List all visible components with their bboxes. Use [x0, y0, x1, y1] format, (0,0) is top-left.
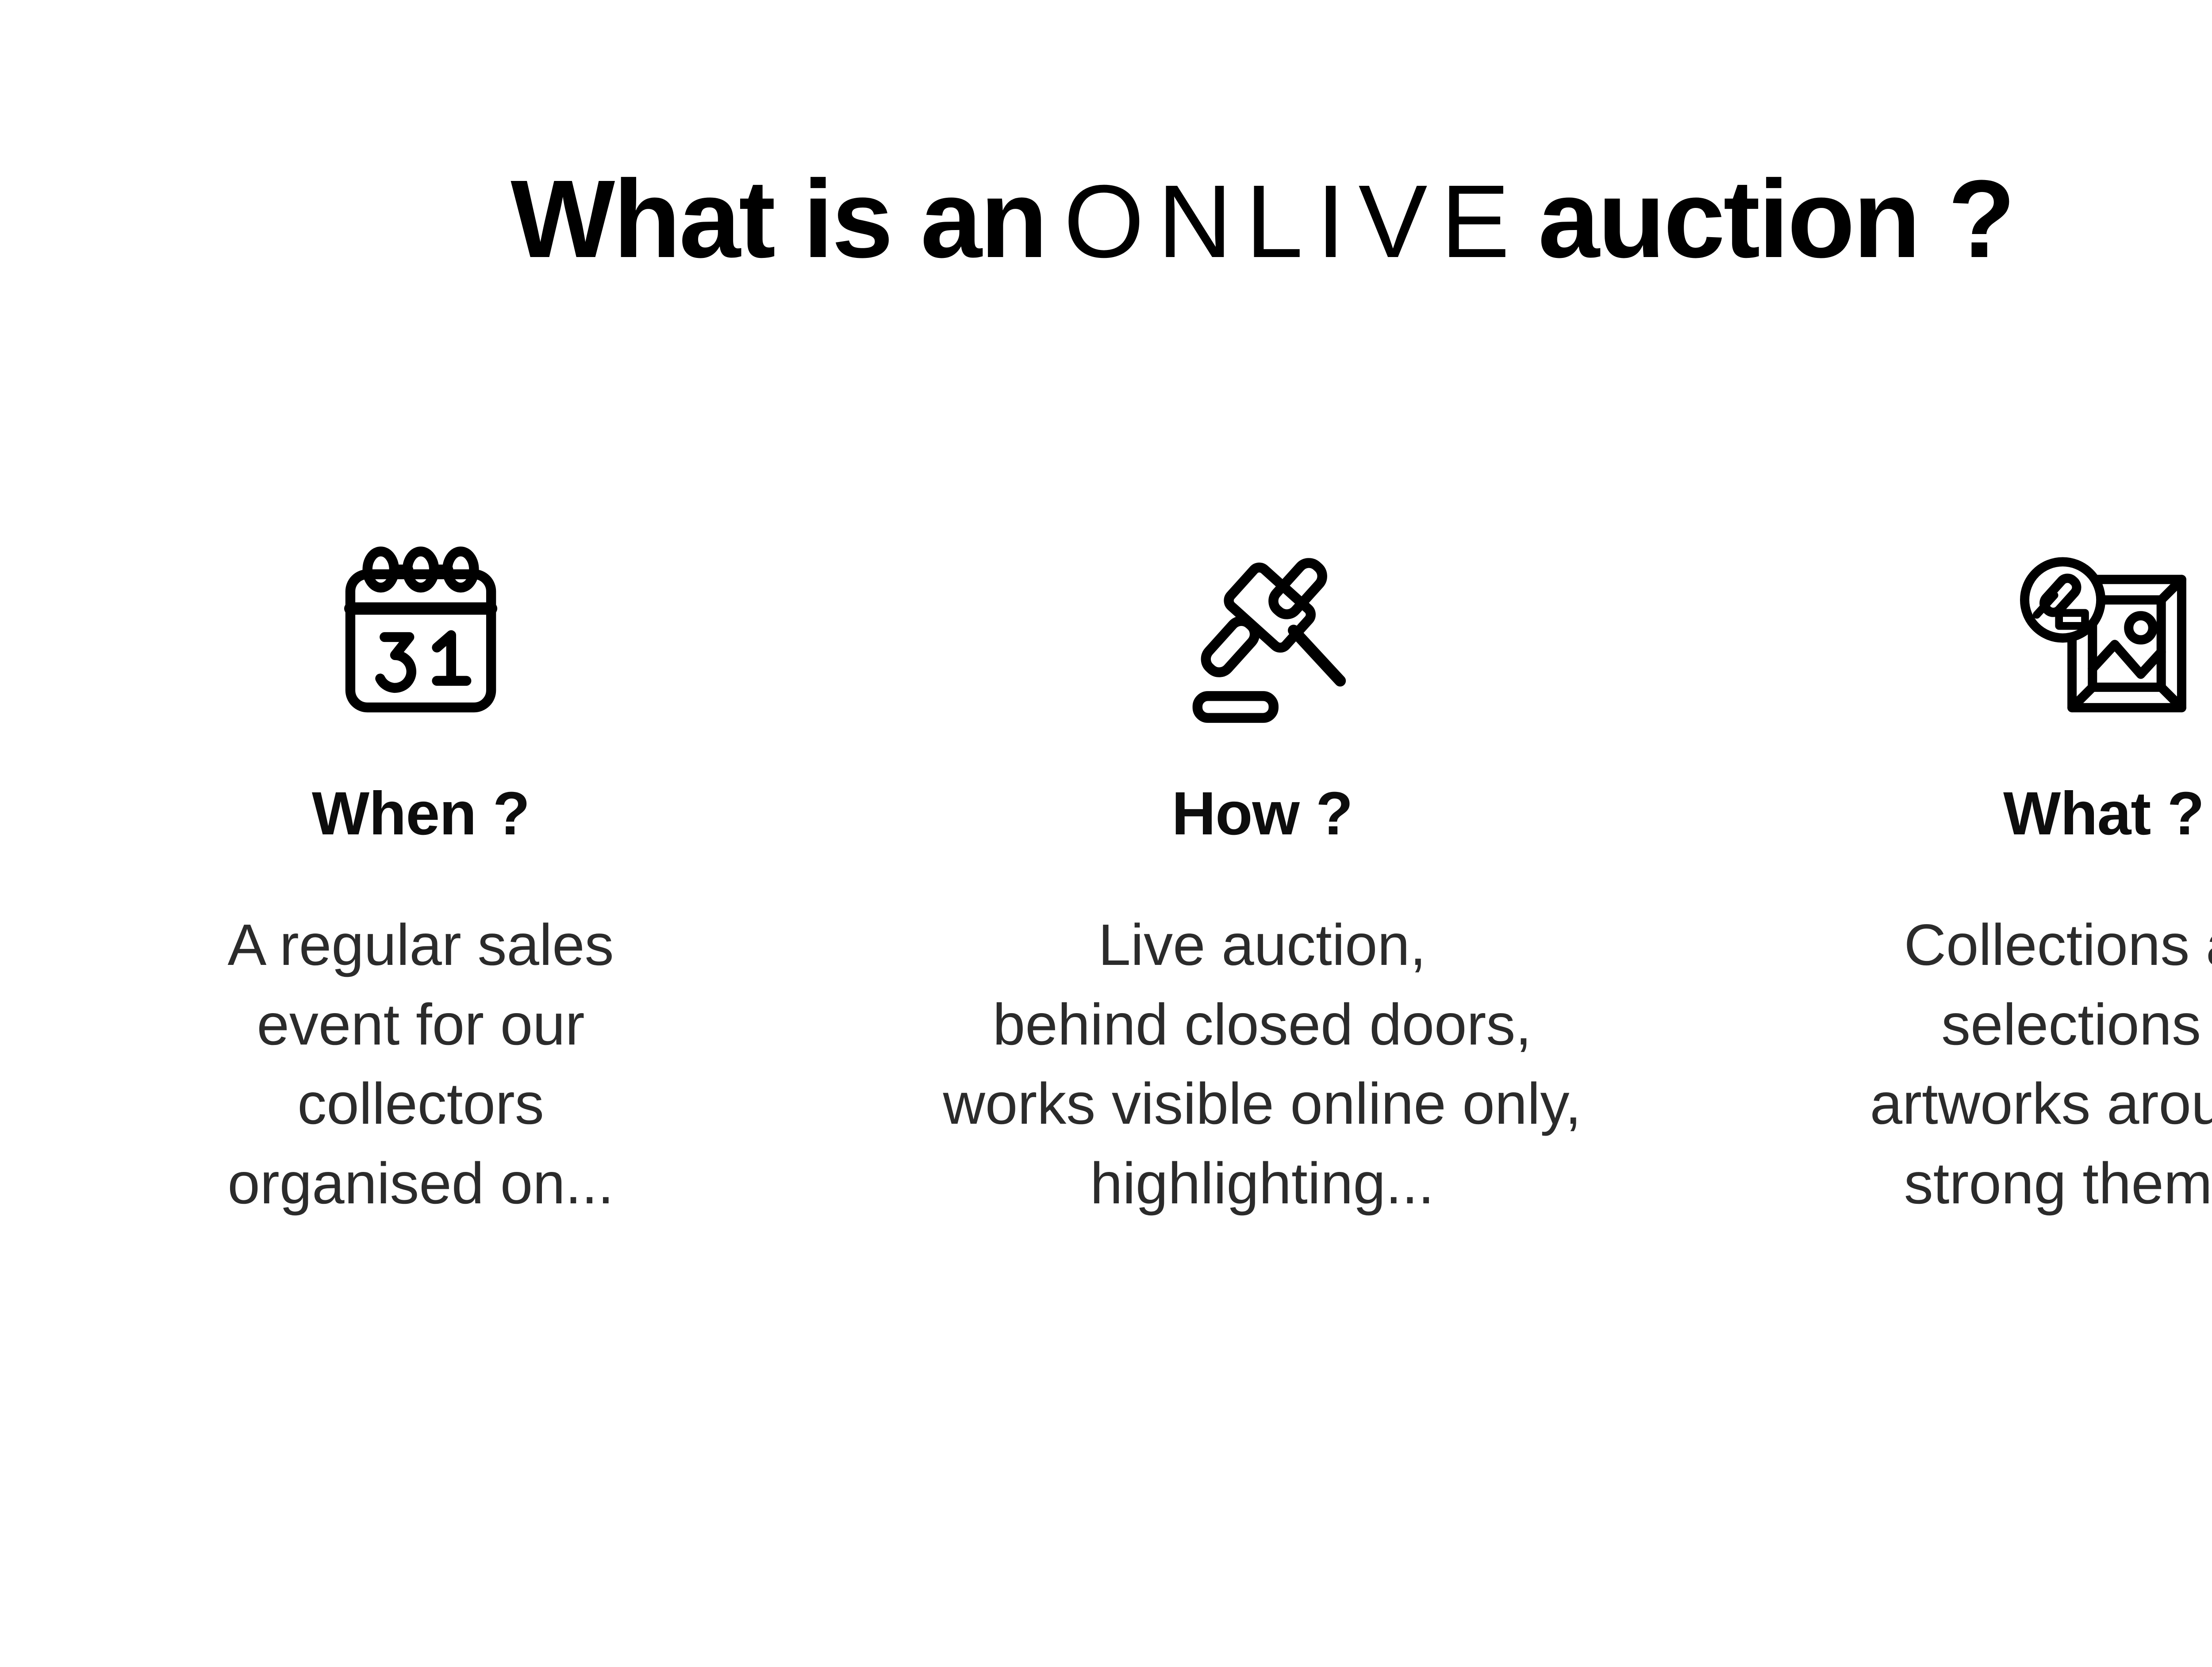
slide-canvas: What is anONLIVEauction ?: [0, 0, 2212, 1667]
body-line: artworks around a: [1870, 1064, 2212, 1144]
body-line: A regular sales: [227, 905, 614, 985]
body-line: collectors: [227, 1064, 614, 1144]
column-body-when: A regular sales event for our collectors…: [227, 905, 614, 1223]
artwork-frame-gavel-icon: [2011, 500, 2197, 774]
column-heading-what: What ?: [2003, 783, 2204, 844]
feature-column-how: How ? Live auction, behind closed doors,…: [841, 500, 1683, 1223]
feature-column-when: When ? A regular sales event for our col…: [0, 500, 841, 1223]
column-heading-how: How ?: [1172, 783, 1353, 844]
title-prefix: What is an: [511, 157, 1046, 280]
body-line: strong thematic: [1870, 1144, 2212, 1223]
column-body-how: Live auction, behind closed doors, works…: [943, 905, 1582, 1223]
body-line: event for our: [227, 985, 614, 1064]
body-line: highlighting...: [943, 1144, 1582, 1223]
body-line: Live auction,: [943, 905, 1582, 985]
feature-columns: When ? A regular sales event for our col…: [0, 500, 2212, 1223]
title-brand-onlive: ONLIVE: [1046, 163, 1538, 279]
column-heading-when: When ?: [312, 783, 530, 844]
calendar-31-icon: [326, 500, 516, 774]
column-body-what: Collections and selections of artworks a…: [1870, 905, 2212, 1223]
body-line: behind closed doors,: [943, 985, 1582, 1064]
body-line: Collections and: [1870, 905, 2212, 985]
body-line: organised on...: [227, 1144, 614, 1223]
feature-column-what: What ? Collections and selections of art…: [1683, 500, 2212, 1223]
gavel-icon: [1165, 500, 1359, 774]
title-suffix: auction ?: [1538, 157, 2014, 280]
page-title: What is anONLIVEauction ?: [0, 164, 2212, 274]
body-line: works visible online only,: [943, 1064, 1582, 1144]
body-line: selections of: [1870, 985, 2212, 1064]
